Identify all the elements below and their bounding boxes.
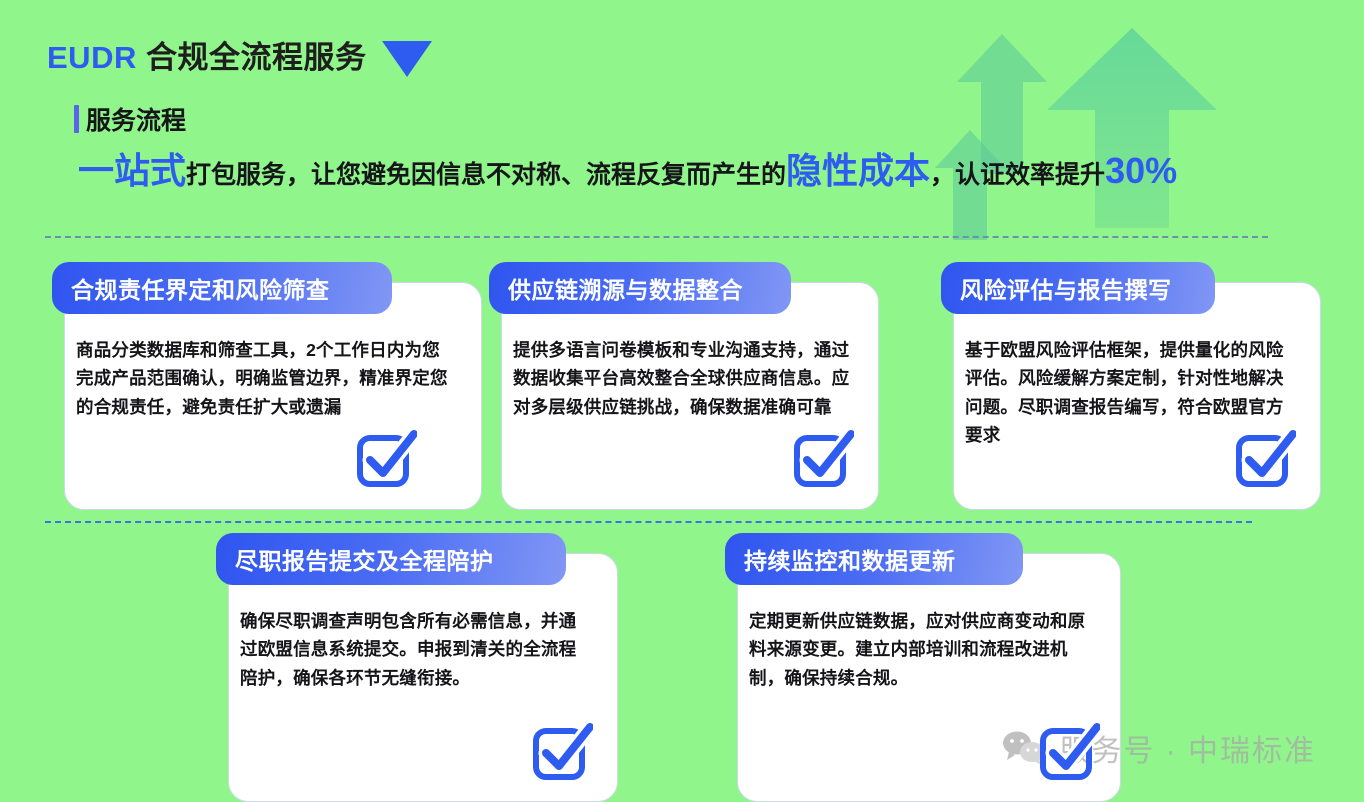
card-description: 定期更新供应链数据，应对供应商变动和原料来源变更。建立内部培训和流程改进机制，确… [749,607,1095,692]
card-title: 持续监控和数据更新 [725,533,1023,585]
title-en: EUDR [47,40,137,75]
card-description: 提供多语言问卷模板和专业沟通支持，通过数据收集平台高效整合全球供应商信息。应对多… [513,336,853,421]
checkbox-check-icon [355,427,417,489]
checkbox-check-icon [531,720,593,782]
section-label: 服务流程 [74,101,1364,137]
triangle-down-icon[interactable] [382,41,432,77]
checkbox-check-icon [1038,720,1100,782]
card-title: 风险评估与报告撰写 [941,262,1215,314]
tagline-part3: 隐性成本 [786,150,930,191]
tagline-part5: 30% [1105,150,1177,191]
page-title: EUDR 合规全流程服务 [0,0,1364,77]
tagline-part4: ，认证效率提升 [930,161,1105,189]
divider-middle [45,521,1252,523]
card-title: 供应链溯源与数据整合 [489,262,791,314]
page-header: EUDR 合规全流程服务 服务流程 一站式打包服务，让您避免因信息不对称、流程反… [0,0,1364,189]
card-title: 尽职报告提交及全程陪护 [216,533,566,585]
tagline-part1: 一站式 [78,150,186,191]
title-cn: 合规全流程服务 [146,40,367,75]
card-description: 商品分类数据库和筛查工具，2个工作日内为您完成产品范围确认，明确监管边界，精准界… [76,336,456,421]
card-title: 合规责任界定和风险筛查 [52,262,392,314]
tagline: 一站式打包服务，让您避免因信息不对称、流程反复而产生的隐性成本，认证效率提升30… [78,153,1364,189]
divider-top [45,236,1268,238]
section-label-text: 服务流程 [86,101,186,137]
tagline-part2: 打包服务，让您避免因信息不对称、流程反复而产生的 [186,161,786,189]
checkbox-check-icon [792,427,854,489]
card-description: 确保尽职调查声明包含所有必需信息，并通过欧盟信息系统提交。申报到清关的全流程陪护… [240,607,590,692]
section-accent-bar [74,105,79,133]
checkbox-check-icon [1234,427,1296,489]
